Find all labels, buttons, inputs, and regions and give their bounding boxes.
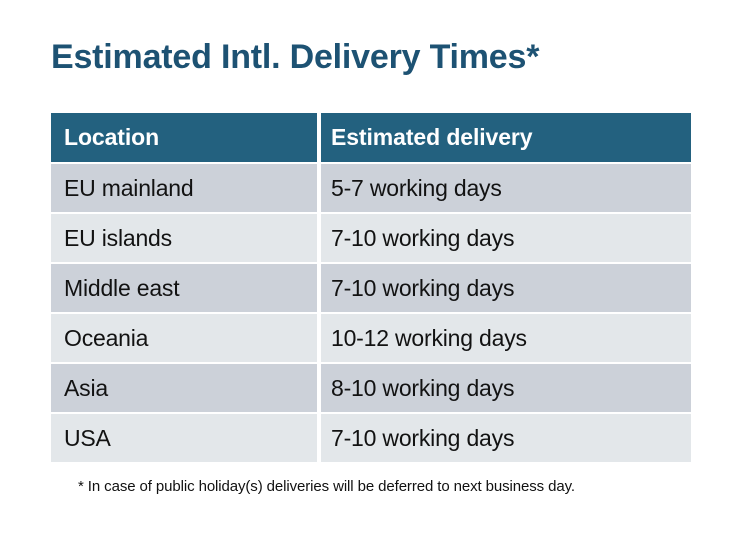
table-cell-estimated-delivery: 7-10 working days — [321, 414, 691, 462]
table-header-cell-estimated-delivery: Estimated delivery — [321, 113, 691, 162]
delivery-times-table: Location Estimated delivery EU mainland … — [51, 113, 691, 462]
table-cell-location-value: Middle east — [64, 275, 179, 302]
table-cell-estimated-delivery-value: 8-10 working days — [331, 375, 514, 402]
table-cell-location: EU islands — [51, 214, 317, 262]
table-cell-estimated-delivery: 7-10 working days — [321, 264, 691, 312]
table-row: EU mainland 5-7 working days — [51, 164, 691, 212]
table-header-label-location: Location — [64, 124, 159, 151]
table-cell-location: Asia — [51, 364, 317, 412]
table-header-label-estimated-delivery: Estimated delivery — [331, 124, 532, 151]
table-cell-estimated-delivery: 8-10 working days — [321, 364, 691, 412]
table-row: USA 7-10 working days — [51, 414, 691, 462]
page-title: Estimated Intl. Delivery Times* — [51, 36, 539, 78]
table-cell-location-value: Asia — [64, 375, 108, 402]
table-cell-location: Oceania — [51, 314, 317, 362]
table-cell-estimated-delivery-value: 7-10 working days — [331, 225, 514, 252]
table-cell-location: USA — [51, 414, 317, 462]
table-row: Asia 8-10 working days — [51, 364, 691, 412]
footnote-text: * In case of public holiday(s) deliverie… — [78, 478, 575, 495]
delivery-times-page: Estimated Intl. Delivery Times* Location… — [0, 0, 745, 536]
table-cell-location-value: EU islands — [64, 225, 172, 252]
table-cell-location-value: USA — [64, 425, 111, 452]
table-cell-estimated-delivery-value: 5-7 working days — [331, 175, 502, 202]
table-cell-estimated-delivery-value: 7-10 working days — [331, 425, 514, 452]
table-cell-location-value: Oceania — [64, 325, 148, 352]
table-row: Middle east 7-10 working days — [51, 264, 691, 312]
table-cell-estimated-delivery: 5-7 working days — [321, 164, 691, 212]
table-row: EU islands 7-10 working days — [51, 214, 691, 262]
table-row: Oceania 10-12 working days — [51, 314, 691, 362]
table-header-row: Location Estimated delivery — [51, 113, 691, 162]
table-cell-estimated-delivery: 7-10 working days — [321, 214, 691, 262]
table-cell-estimated-delivery-value: 10-12 working days — [331, 325, 527, 352]
table-cell-location: EU mainland — [51, 164, 317, 212]
table-cell-location-value: EU mainland — [64, 175, 193, 202]
table-cell-estimated-delivery-value: 7-10 working days — [331, 275, 514, 302]
table-header-cell-location: Location — [51, 113, 317, 162]
table-cell-estimated-delivery: 10-12 working days — [321, 314, 691, 362]
table-cell-location: Middle east — [51, 264, 317, 312]
